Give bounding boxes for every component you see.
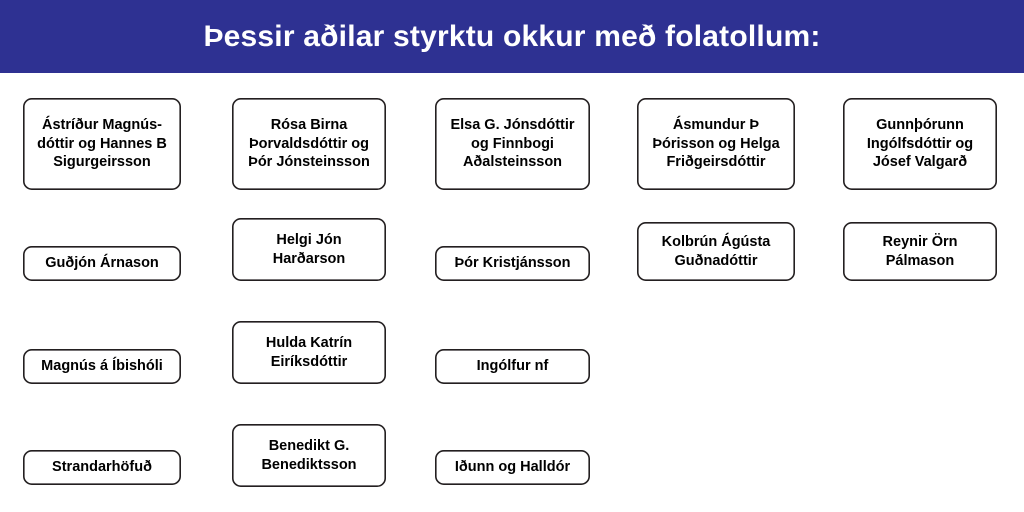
sponsor-name: Rósa Birna Þorvaldsdóttir og Þór Jónstei… xyxy=(232,98,386,190)
sponsor-box: Guðjón Árnason xyxy=(23,246,181,281)
sponsor-name: Magnús á Íbishóli xyxy=(23,349,181,384)
sponsor-box: Elsa G. Jónsdóttir og Finnbogi Aðalstein… xyxy=(435,98,590,190)
sponsor-name: Hulda Katrín Eiríksdóttir xyxy=(232,321,386,384)
sponsor-box: Strandarhöfuð xyxy=(23,450,181,485)
sponsor-name: Kolbrún Ágústa Guðnadóttir xyxy=(637,222,795,281)
sponsor-board: Ástríður Magnús- dóttir og Hannes B Sigu… xyxy=(0,73,1024,512)
sponsor-box: Gunnþórunn Ingólfsdóttir og Jósef Valgar… xyxy=(843,98,997,190)
sponsor-box: Rósa Birna Þorvaldsdóttir og Þór Jónstei… xyxy=(232,98,386,190)
sponsor-name: Benedikt G. Benediktsson xyxy=(232,424,386,487)
sponsor-name: Elsa G. Jónsdóttir og Finnbogi Aðalstein… xyxy=(435,98,590,190)
sponsor-box: Ásmundur Þ Þórisson og Helga Friðgeirsdó… xyxy=(637,98,795,190)
sponsor-name: Helgi Jón Harðarson xyxy=(232,218,386,281)
sponsor-box: Iðunn og Halldór xyxy=(435,450,590,485)
sponsor-name: Iðunn og Halldór xyxy=(435,450,590,485)
sponsor-name: Strandarhöfuð xyxy=(23,450,181,485)
sponsor-name: Gunnþórunn Ingólfsdóttir og Jósef Valgar… xyxy=(843,98,997,190)
sponsor-name: Þór Kristjánsson xyxy=(435,246,590,281)
header-banner: Þessir aðilar styrktu okkur með folatoll… xyxy=(0,0,1024,73)
sponsor-box: Ástríður Magnús- dóttir og Hannes B Sigu… xyxy=(23,98,181,190)
sponsor-name: Ásmundur Þ Þórisson og Helga Friðgeirsdó… xyxy=(637,98,795,190)
sponsor-name: Ingólfur nf xyxy=(435,349,590,384)
sponsor-box: Benedikt G. Benediktsson xyxy=(232,424,386,487)
sponsor-box: Helgi Jón Harðarson xyxy=(232,218,386,281)
sponsor-name: Guðjón Árnason xyxy=(23,246,181,281)
sponsor-box: Þór Kristjánsson xyxy=(435,246,590,281)
sponsor-box: Reynir Örn Pálmason xyxy=(843,222,997,281)
sponsor-box: Magnús á Íbishóli xyxy=(23,349,181,384)
sponsor-name: Reynir Örn Pálmason xyxy=(843,222,997,281)
sponsor-name: Ástríður Magnús- dóttir og Hannes B Sigu… xyxy=(23,98,181,190)
page-title: Þessir aðilar styrktu okkur með folatoll… xyxy=(203,20,820,54)
sponsor-box: Hulda Katrín Eiríksdóttir xyxy=(232,321,386,384)
sponsor-box: Ingólfur nf xyxy=(435,349,590,384)
sponsor-box: Kolbrún Ágústa Guðnadóttir xyxy=(637,222,795,281)
